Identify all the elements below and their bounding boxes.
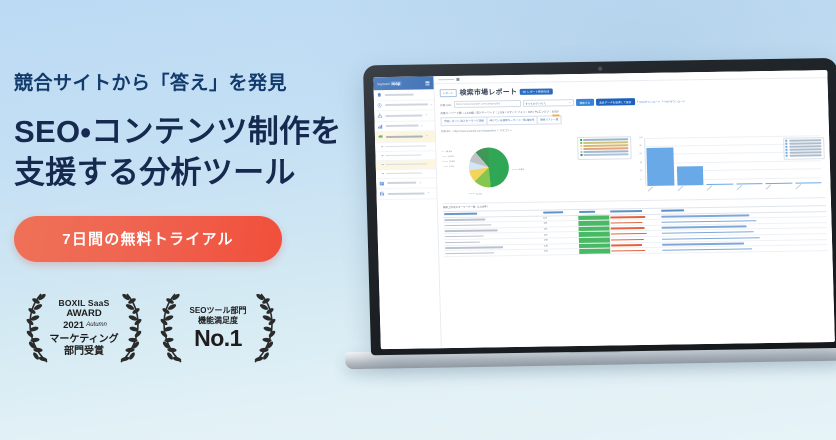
legend-swatch xyxy=(580,142,582,144)
y-tick-label: 60 xyxy=(640,153,642,155)
pie-label-0: ー 48.8% xyxy=(441,149,452,153)
app-page-title: 検索市場レポート xyxy=(459,87,517,98)
legend-swatch xyxy=(786,152,788,154)
sidebar-item-label xyxy=(387,182,417,184)
badge-seo-tool-no1: SEOツール部門 機能満足度 No.1 xyxy=(158,286,278,370)
chevron-down-icon xyxy=(421,125,423,126)
chevron-down-icon xyxy=(426,136,428,137)
bullet-icon xyxy=(381,146,383,148)
legend-swatch xyxy=(580,139,582,141)
search-button[interactable]: 検索する xyxy=(576,99,594,106)
pie-chart-legend xyxy=(577,136,632,160)
legend-item xyxy=(786,154,822,157)
home-icon xyxy=(377,92,382,97)
chevron-down-icon xyxy=(430,104,432,105)
legend-swatch xyxy=(786,143,788,145)
chevron-down-icon xyxy=(419,182,421,183)
device-select[interactable]: すべてのデバイス xyxy=(523,99,574,107)
sidebar-header: keyword map xyxy=(373,76,433,90)
badge-text: SEOツール部門 機能満足度 No.1 xyxy=(180,306,256,350)
legend-label xyxy=(789,142,822,144)
url-input[interactable]: https://www.example.com/category/list xyxy=(453,100,520,108)
legend-swatch xyxy=(786,155,788,157)
badge-line-5: 部門受賞 xyxy=(46,346,122,358)
app-logo[interactable]: keyword map xyxy=(377,81,401,86)
y-tick-label: 20 xyxy=(640,170,642,172)
pie-label-4: ーーー 8.8% xyxy=(512,166,524,170)
legend-label xyxy=(789,145,822,147)
badge-boxil-saas-award: BOXIL SaaS AWARD 2021Autumn マーケティング 部門受賞 xyxy=(24,286,144,370)
pdf-download-link[interactable]: ⤓ PDFダウンロード xyxy=(662,99,685,103)
legend-swatch xyxy=(786,146,788,148)
hamburger-icon[interactable] xyxy=(425,81,429,85)
y-tick-label: 80 xyxy=(639,145,641,147)
pie-chart: ー 48.8% ーー 13.9% ーーー 10.0% ーー 7.2% ーーー 8… xyxy=(441,132,633,201)
laurel-wreath-icon xyxy=(252,290,278,366)
bar xyxy=(646,147,674,185)
legend-swatch xyxy=(786,140,788,142)
create-report-button[interactable]: レポート新規作成 xyxy=(520,88,552,95)
sidebar-item-label xyxy=(385,145,426,147)
pie-chart-graphic xyxy=(468,147,509,188)
award-badges: BOXIL SaaS AWARD 2021Autumn マーケティング 部門受賞 xyxy=(24,286,278,370)
bar xyxy=(676,166,703,185)
csv-download-link[interactable]: ⤓ CSVダウンロード xyxy=(637,99,660,103)
logo-prefix: keyword xyxy=(377,82,389,86)
logo-suffix: map xyxy=(390,81,401,86)
badge-line-1: SEOツール部門 xyxy=(180,306,256,316)
laptop-screen: keyword map xyxy=(373,70,835,349)
bar-chart-graphic: 100 80 60 40 20 0 xyxy=(644,135,826,198)
refresh-data-button[interactable]: 直近データを取得して更新 xyxy=(596,98,635,106)
pie-label-1: ーー 13.9% xyxy=(442,154,453,158)
badge-line-3: 2021Autumn xyxy=(46,320,122,332)
x-tick-label xyxy=(766,188,793,193)
badge-season: Autumn xyxy=(86,322,107,328)
free-trial-button[interactable]: 7日間の無料トライアル xyxy=(14,216,282,262)
webcam-icon xyxy=(598,67,602,71)
pie-label-2: ーーー 10.0% xyxy=(442,159,455,163)
app-sidebar: keyword map xyxy=(373,76,442,349)
headline-line-1: SEO・コンテンツ制作を xyxy=(14,111,374,153)
sidebar-item-label xyxy=(386,163,427,165)
bullet-icon xyxy=(381,155,383,157)
laurel-wreath-icon xyxy=(158,290,184,366)
hero-copy: 競合サイトから「答え」を発見 SEO・コンテンツ制作を 支援する分析ツール 7日… xyxy=(14,72,374,262)
legend-swatch xyxy=(580,148,582,150)
x-tick-label xyxy=(736,189,763,194)
cell-url xyxy=(661,245,827,253)
pie-label-5: ーーー 11.3% xyxy=(469,191,482,195)
pie-label-3: ーー 7.2% xyxy=(444,164,454,168)
megaphone-icon xyxy=(378,134,383,139)
sidebar-item-account-settings[interactable] xyxy=(376,188,436,199)
bar xyxy=(765,183,792,184)
legend-item xyxy=(581,153,629,156)
sidebar-item-label xyxy=(387,192,425,195)
chevron-down-icon xyxy=(425,115,427,116)
cell-keyword xyxy=(444,249,543,256)
badge-line-2: AWARD xyxy=(46,308,122,320)
legend-label xyxy=(789,154,822,156)
badge-line-1: BOXIL SaaS xyxy=(46,298,122,308)
sidebar-item-label xyxy=(386,154,422,156)
bar-chart-legend xyxy=(783,137,825,160)
charts-row: ー 48.8% ーー 13.9% ーーー 10.0% ーー 7.2% ーーー 8… xyxy=(436,128,831,203)
bullet-icon xyxy=(382,164,384,166)
download-icon: ⤓ xyxy=(662,100,664,103)
sidebar-item-label xyxy=(386,172,422,174)
x-tick-label xyxy=(707,189,734,194)
legend-swatch xyxy=(580,145,582,147)
sidebar-item-label xyxy=(385,125,419,128)
tab-competitor-list-label: 競合リスト一覧 xyxy=(540,119,558,122)
device-select-value: すべてのデバイス xyxy=(525,101,546,105)
create-report-label: レポート新規作成 xyxy=(527,89,550,93)
x-axis-labels xyxy=(648,188,822,196)
breadcrumb-label[interactable] xyxy=(438,79,454,81)
cell-volume: 110 xyxy=(543,249,579,255)
x-tick-label xyxy=(648,190,675,195)
bar-chart-icon xyxy=(378,124,383,129)
chevron-down-icon xyxy=(427,193,429,194)
legend-label xyxy=(583,142,628,144)
download-icon: ⤓ xyxy=(637,100,639,103)
compass-icon xyxy=(377,103,382,108)
hero-eyebrow: 競合サイトから「答え」を発見 xyxy=(14,72,374,97)
breadcrumb-icon[interactable] xyxy=(456,78,459,81)
legend-label xyxy=(584,154,629,156)
bar-chart: 100 80 60 40 20 0 xyxy=(634,129,826,198)
badge-line-4: マーケティング xyxy=(46,334,122,346)
legend-label xyxy=(789,148,822,150)
csv-download-label: CSVダウンロード xyxy=(639,99,660,103)
tab-growing-keywords[interactable]: 伸びている検索キーワード一覧・増加率 xyxy=(486,116,537,126)
y-tick-label: 0 xyxy=(640,179,641,181)
bar xyxy=(736,183,763,184)
badge-rank: No.1 xyxy=(180,327,256,350)
sidebar-item-label xyxy=(385,104,428,107)
legend-label xyxy=(584,148,629,150)
cell-rank xyxy=(579,248,611,254)
cell-traffic xyxy=(610,247,661,253)
plus-icon xyxy=(523,91,526,94)
new-badge: NEW xyxy=(552,114,559,116)
legend-swatch xyxy=(581,154,583,156)
sidebar-item-label xyxy=(385,135,423,138)
bar xyxy=(706,183,733,184)
tab-competitor-list[interactable]: NEW 競合リスト一覧 xyxy=(537,115,562,125)
app-main: レポート 検索市場レポート レポート新規作成 対象 URL https://ww… xyxy=(434,70,835,348)
badge-text: BOXIL SaaS AWARD 2021Autumn マーケティング 部門受賞 xyxy=(46,298,122,358)
page-tag: レポート xyxy=(440,89,457,97)
page-title: SEO・コンテンツ制作を 支援する分析ツール xyxy=(14,111,374,194)
sidebar-item-label xyxy=(384,93,414,95)
bullet-icon xyxy=(382,173,384,175)
legend-swatch xyxy=(580,151,582,153)
sidebar-item-label xyxy=(385,114,423,117)
laptop-mockup: keyword map xyxy=(337,45,836,369)
y-tick-label: 100 xyxy=(639,137,642,139)
tab-market-report[interactable]: 市場レポート・流入キーワード詳細 xyxy=(440,116,486,126)
chevron-down-icon xyxy=(569,102,571,103)
headline-line-2: 支援する分析ツール xyxy=(14,152,374,194)
legend-label xyxy=(583,145,628,147)
hero-section: 競合サイトから「答え」を発見 SEO・コンテンツ制作を 支援する分析ツール 7日… xyxy=(0,0,836,440)
ads-icon xyxy=(379,181,384,186)
results-table-wrap: 検索上位流入キーワード一覧（1,024件） xyxy=(438,197,833,261)
settings-chart-icon xyxy=(379,191,384,196)
pdf-download-label: PDFダウンロード xyxy=(665,99,686,103)
x-tick-label xyxy=(795,188,822,193)
legend-label xyxy=(789,151,822,153)
legend-swatch xyxy=(786,149,788,151)
y-tick-label: 40 xyxy=(640,162,642,164)
url-field-label: 対象 URL xyxy=(440,103,452,107)
bar xyxy=(795,182,822,183)
sitemap-icon xyxy=(377,113,382,118)
laptop-lid: keyword map xyxy=(363,58,836,355)
legend-label xyxy=(789,139,822,141)
app-window: keyword map xyxy=(373,70,835,349)
results-table: 110 110 110 110 140 130 110 xyxy=(443,205,827,257)
badge-year: 2021 xyxy=(63,320,84,331)
x-tick-label xyxy=(677,190,704,195)
legend-label xyxy=(584,151,629,153)
legend-label xyxy=(583,139,628,141)
